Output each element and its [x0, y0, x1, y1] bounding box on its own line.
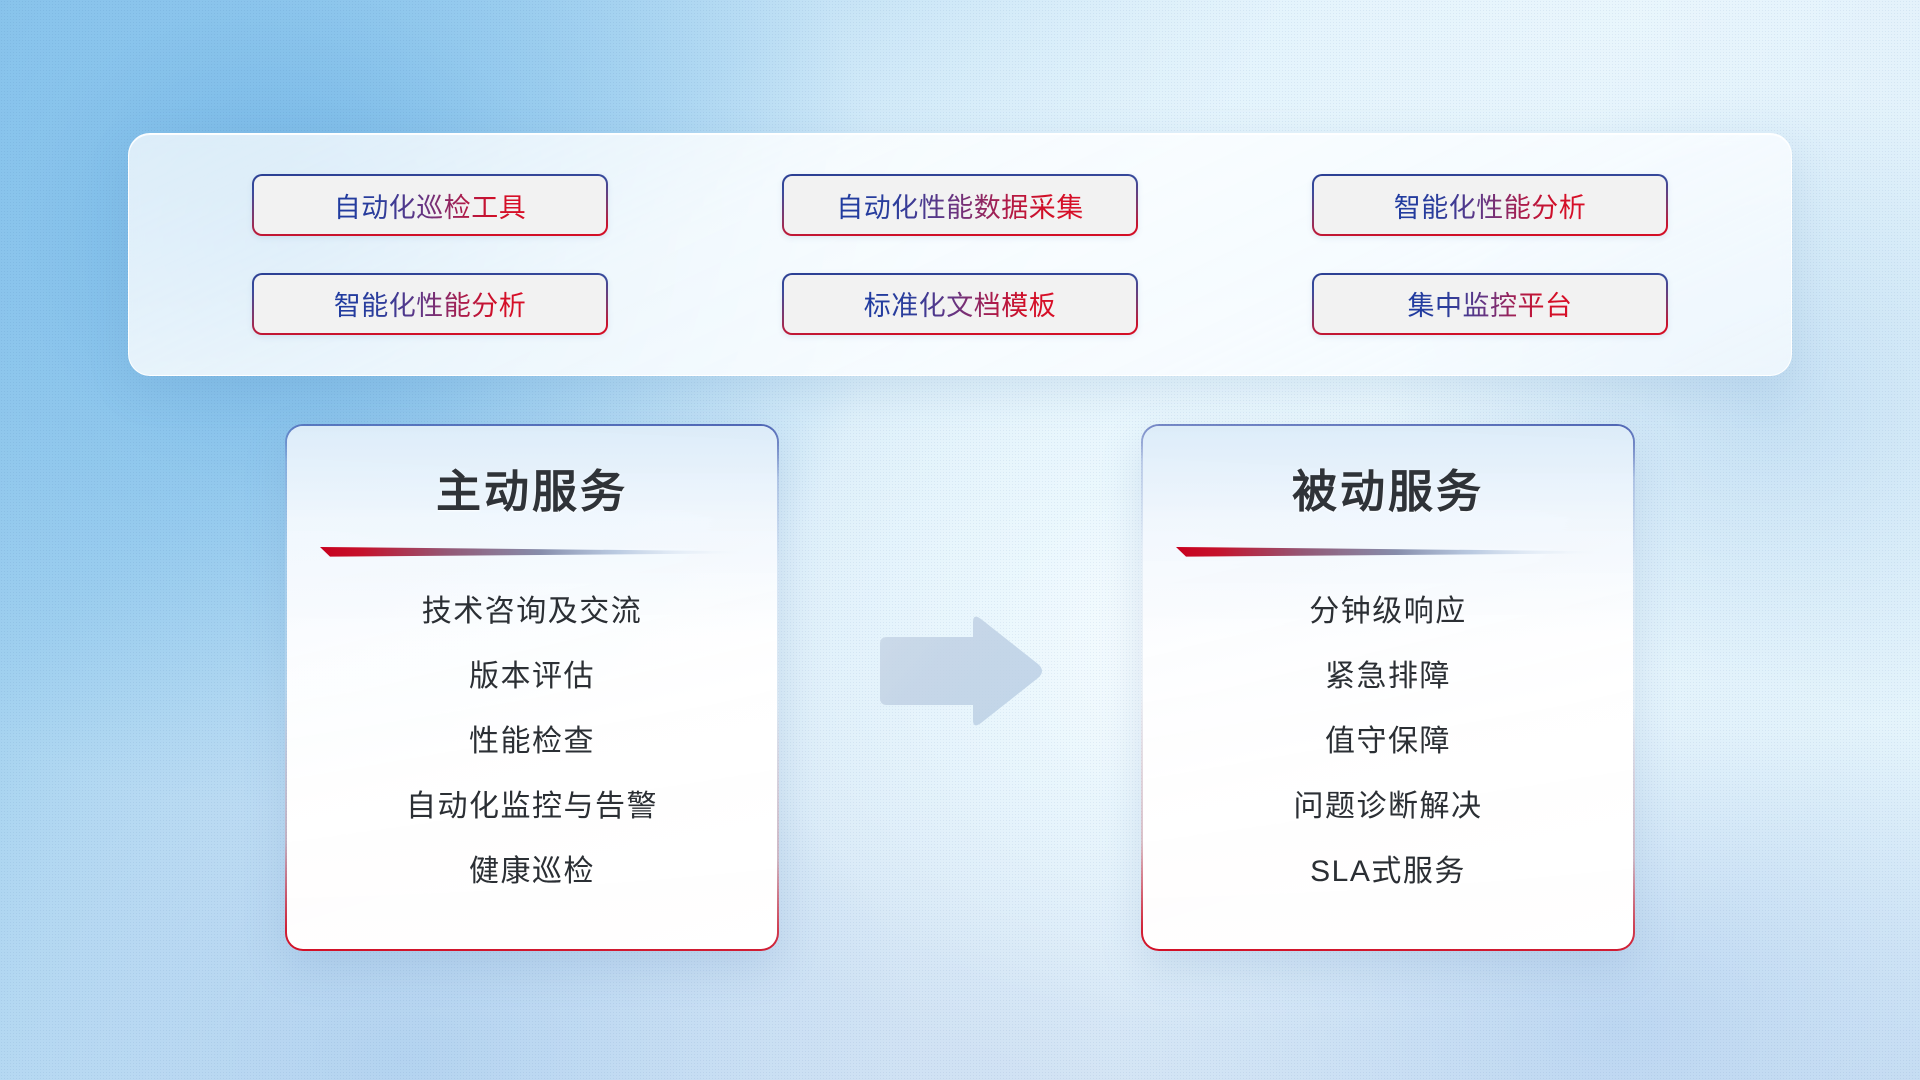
service-card-surface: 主动服务 技术咨询及交流 版本评估: [287, 426, 777, 949]
capability-pill[interactable]: 自动化巡检工具: [252, 174, 608, 236]
capability-pill-surface: 自动化巡检工具: [254, 176, 606, 234]
capability-pill-label: 集中监控平台: [1408, 284, 1573, 323]
service-card-reactive[interactable]: 被动服务 分钟级响应 紧急排障: [1141, 424, 1635, 951]
capability-pill[interactable]: 集中监控平台: [1312, 273, 1668, 335]
service-card-list: 分钟级响应 紧急排障 值守保障 问题诊断解决 SLA式服务: [1143, 586, 1633, 890]
service-list-item: 紧急排障: [1325, 651, 1451, 695]
service-list-item: 自动化监控与告警: [406, 781, 658, 825]
service-list-item: 分钟级响应: [1309, 586, 1467, 630]
capability-pill-label: 智能化性能分析: [334, 284, 527, 323]
service-card-title: 被动服务: [1292, 455, 1484, 520]
service-list-item: 性能检查: [469, 716, 595, 760]
service-card-surface: 被动服务 分钟级响应 紧急排障: [1143, 426, 1633, 949]
capability-pill[interactable]: 自动化性能数据采集: [782, 174, 1138, 236]
capability-pill-grid: 自动化巡检工具 自动化性能数据采集 智能化性能分析 智能化性能分析 标准化文档模…: [129, 134, 1791, 375]
capability-pill-label: 自动化性能数据采集: [836, 186, 1084, 225]
service-list-item: 版本评估: [469, 651, 595, 695]
title-divider: [1176, 544, 1600, 560]
capability-pill[interactable]: 智能化性能分析: [252, 273, 608, 335]
capability-pill-label: 智能化性能分析: [1394, 186, 1587, 225]
service-card-title: 主动服务: [436, 455, 628, 520]
title-divider: [320, 544, 744, 560]
capability-pill[interactable]: 智能化性能分析: [1312, 174, 1668, 236]
capability-pill[interactable]: 标准化文档模板: [782, 273, 1138, 335]
service-list-item: SLA式服务: [1310, 846, 1466, 890]
service-list-item: 值守保障: [1325, 716, 1451, 760]
capability-pill-surface: 自动化性能数据采集: [784, 176, 1136, 234]
service-list-item: 问题诊断解决: [1294, 781, 1483, 825]
capability-pill-surface: 智能化性能分析: [254, 275, 606, 333]
service-list-item: 健康巡检: [469, 846, 595, 890]
capability-pill-surface: 集中监控平台: [1314, 275, 1666, 333]
arrow-right-icon: [874, 613, 1046, 731]
capability-pill-surface: 标准化文档模板: [784, 275, 1136, 333]
capability-pill-surface: 智能化性能分析: [1314, 176, 1666, 234]
capability-pill-label: 标准化文档模板: [864, 284, 1057, 323]
capability-panel: 自动化巡检工具 自动化性能数据采集 智能化性能分析 智能化性能分析 标准化文档模…: [128, 133, 1792, 376]
service-list-item: 技术咨询及交流: [422, 586, 643, 630]
service-card-list: 技术咨询及交流 版本评估 性能检查 自动化监控与告警 健康巡检: [287, 586, 777, 890]
service-card-proactive[interactable]: 主动服务 技术咨询及交流 版本评估: [285, 424, 779, 951]
capability-pill-label: 自动化巡检工具: [334, 186, 527, 225]
